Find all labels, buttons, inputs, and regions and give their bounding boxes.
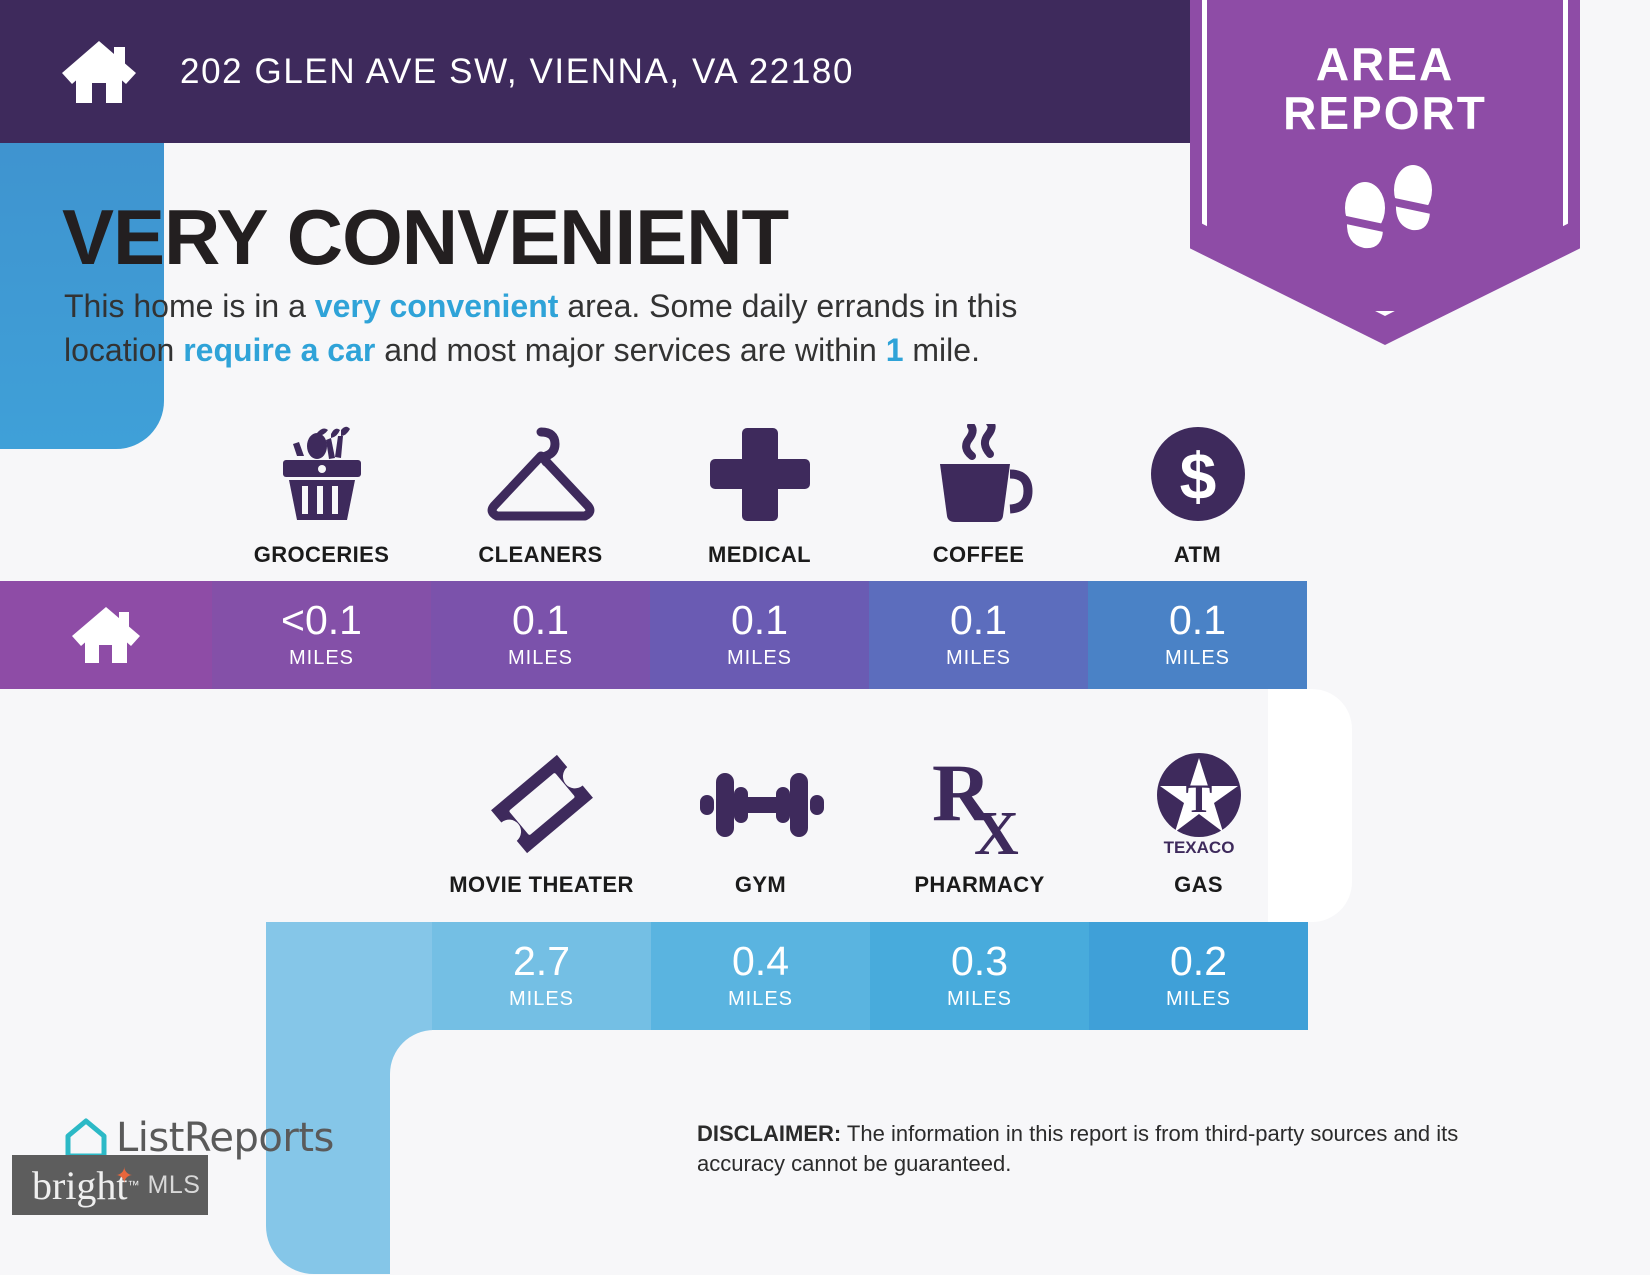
svg-text:X: X	[974, 800, 1019, 858]
distance-value: 0.4	[732, 941, 789, 982]
bar-cell-pharmacy: 0.3 MILES	[870, 922, 1089, 1030]
category-coffee: COFFEE	[869, 420, 1088, 568]
summary-part-3: and most major services are within	[375, 332, 885, 368]
distance-units: MILES	[946, 647, 1011, 670]
category-label: GAS	[1174, 872, 1223, 898]
bar-cell-cleaners: 0.1 MILES	[431, 581, 650, 689]
category-label: PHARMACY	[914, 872, 1044, 898]
bar-cell-medical: 0.1 MILES	[650, 581, 869, 689]
category-label: ATM	[1174, 542, 1221, 568]
distance-value: 0.1	[731, 600, 788, 641]
distance-value: 0.1	[1169, 600, 1226, 641]
category-icons-row-1: GROCERIES CLEANERS MEDICAL	[212, 420, 1307, 568]
rx-icon: R X	[930, 750, 1030, 858]
summary-highlight-3: 1	[886, 332, 904, 368]
distance-units: MILES	[727, 647, 792, 670]
distance-units: MILES	[1165, 647, 1230, 670]
summary-highlight-2: require a car	[183, 332, 375, 368]
page-title: 202 GLEN AVE SW, VIENNA, VA 22180	[180, 52, 854, 92]
category-pharmacy: R X PHARMACY	[870, 750, 1089, 898]
svg-text:$: $	[1179, 439, 1216, 513]
header-bar: 202 GLEN AVE SW, VIENNA, VA 22180	[0, 0, 1195, 143]
category-label: MOVIE THEATER	[449, 872, 633, 898]
distance-value: 2.7	[513, 941, 570, 982]
bar-cell-gas: 0.2 MILES	[1089, 922, 1308, 1030]
area-report-page: 202 GLEN AVE SW, VIENNA, VA 22180 AREA R…	[0, 0, 1650, 1275]
coffee-cup-icon	[924, 420, 1034, 528]
footprints-icon	[1333, 160, 1443, 255]
medical-cross-icon	[710, 420, 810, 528]
atm-dollar-icon: $	[1149, 420, 1247, 528]
dumbbell-icon	[696, 750, 826, 858]
bar-cell-coffee: 0.1 MILES	[869, 581, 1088, 689]
distance-units: MILES	[509, 988, 574, 1011]
badge-line-1: AREA	[1190, 40, 1580, 89]
texaco-logo-icon: T TEXACO	[1150, 750, 1248, 858]
bar-cell-movie-theater: 2.7 MILES	[432, 922, 651, 1030]
category-label: GYM	[735, 872, 786, 898]
distance-units: MILES	[1166, 988, 1231, 1011]
bright-wordmark: bright	[32, 1162, 128, 1209]
distance-units: MILES	[508, 647, 573, 670]
bright-star-icon: ✦	[115, 1163, 133, 1189]
distance-value: <0.1	[281, 600, 362, 641]
disclaimer: DISCLAIMER: The information in this repo…	[697, 1119, 1512, 1179]
bar-cell-groceries: <0.1 MILES	[212, 581, 431, 689]
texaco-wordmark: TEXACO	[1163, 838, 1234, 857]
distance-value: 0.1	[512, 600, 569, 641]
headline: VERY CONVENIENT	[62, 192, 788, 283]
svg-text:T: T	[1185, 776, 1212, 821]
summary-part-4: mile.	[904, 332, 980, 368]
listreports-house-icon	[62, 1116, 110, 1160]
path-connector-left-notch	[390, 1030, 480, 1275]
bright-mls-label: MLS	[148, 1171, 201, 1200]
category-gas: T TEXACO GAS	[1089, 750, 1308, 898]
category-label: MEDICAL	[708, 542, 811, 568]
summary-part-1: This home is in a	[64, 288, 315, 324]
badge-line-2: REPORT	[1190, 89, 1580, 138]
category-groceries: GROCERIES	[212, 420, 431, 568]
home-icon	[60, 39, 138, 105]
distance-units: MILES	[947, 988, 1012, 1011]
category-movie-theater: MOVIE THEATER	[432, 750, 651, 898]
category-medical: MEDICAL	[650, 420, 869, 568]
category-icons-row-2: MOVIE THEATER GYM	[432, 750, 1308, 898]
movie-ticket-icon	[487, 750, 597, 858]
summary-highlight-1: very convenient	[315, 288, 559, 324]
badge-label: AREA REPORT	[1190, 40, 1580, 138]
distance-value: 0.1	[950, 600, 1007, 641]
home-icon	[70, 605, 142, 665]
category-label: CLEANERS	[478, 542, 602, 568]
grocery-basket-icon	[269, 420, 375, 528]
category-label: GROCERIES	[254, 542, 390, 568]
summary-text: This home is in a very convenient area. …	[64, 285, 1109, 372]
category-atm: $ ATM	[1088, 420, 1307, 568]
bright-mls-watermark: bright™ MLS	[12, 1155, 208, 1215]
distance-units: MILES	[728, 988, 793, 1011]
bar-cell-gym: 0.4 MILES	[651, 922, 870, 1030]
category-gym: GYM	[651, 750, 870, 898]
distance-bar-row-1: <0.1 MILES 0.1 MILES 0.1 MILES 0.1 MILES…	[0, 581, 1307, 689]
clothes-hanger-icon	[481, 420, 601, 528]
bar-cell-home	[0, 581, 212, 689]
bar-cell-atm: 0.1 MILES	[1088, 581, 1307, 689]
category-cleaners: CLEANERS	[431, 420, 650, 568]
distance-value: 0.3	[951, 941, 1008, 982]
distance-units: MILES	[289, 647, 354, 670]
distance-value: 0.2	[1170, 941, 1227, 982]
category-label: COFFEE	[933, 542, 1025, 568]
disclaimer-label: DISCLAIMER:	[697, 1121, 841, 1146]
